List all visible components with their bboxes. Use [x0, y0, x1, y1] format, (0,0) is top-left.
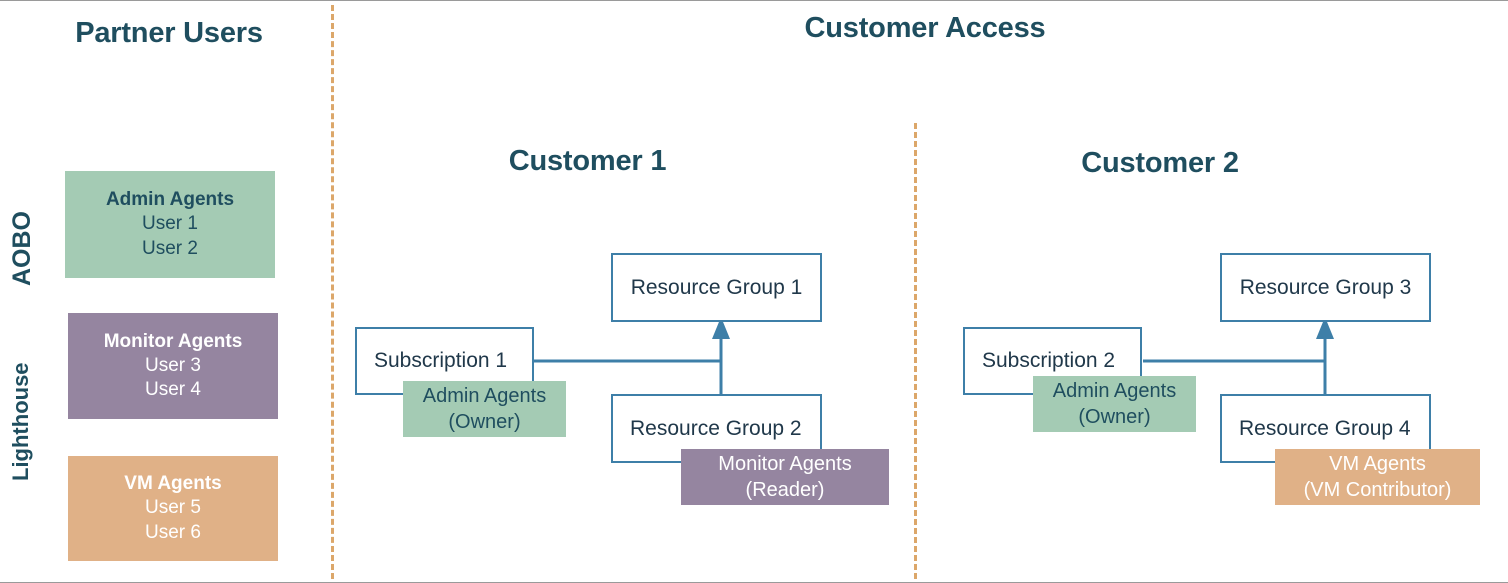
role-assignment-resource-group-2[interactable]: Monitor Agents (Reader): [681, 449, 889, 505]
band-label-lighthouse: Lighthouse: [8, 362, 34, 481]
divider-partner-customer: [331, 5, 334, 579]
partner-group-admin-agents[interactable]: Admin Agents User 1 User 2: [65, 171, 275, 278]
role-assignment-role: (Owner): [448, 409, 520, 435]
role-assignment-resource-group-4[interactable]: VM Agents (VM Contributor): [1275, 449, 1480, 505]
partner-group-user: User 1: [142, 212, 198, 236]
subscription-label: Subscription 2: [982, 349, 1115, 373]
subscription-label: Subscription 1: [374, 349, 507, 373]
band-label-aobo: AOBO: [8, 211, 37, 286]
partner-group-name: Admin Agents: [106, 188, 234, 212]
partner-group-name: VM Agents: [124, 472, 221, 496]
divider-customer1-customer2: [914, 123, 917, 579]
partner-group-name: Monitor Agents: [104, 330, 243, 354]
role-assignment-group: Admin Agents: [423, 383, 546, 409]
role-assignment-group: Admin Agents: [1053, 378, 1176, 404]
resource-group-1-box[interactable]: Resource Group 1: [611, 253, 822, 322]
partner-group-user: User 4: [145, 378, 201, 402]
resource-group-3-box[interactable]: Resource Group 3: [1220, 253, 1431, 322]
diagram-canvas: Partner Users Customer Access Customer 1…: [0, 0, 1508, 583]
role-assignment-subscription-1[interactable]: Admin Agents (Owner): [403, 381, 566, 437]
role-assignment-subscription-2[interactable]: Admin Agents (Owner): [1033, 376, 1196, 432]
resource-group-label: Resource Group 1: [631, 276, 803, 300]
resource-group-label: Resource Group 3: [1240, 276, 1412, 300]
partner-group-user: User 3: [145, 354, 201, 378]
partner-group-user: User 5: [145, 496, 201, 520]
role-assignment-role: (VM Contributor): [1304, 477, 1452, 503]
resource-group-label: Resource Group 2: [630, 417, 802, 441]
partner-group-vm-agents[interactable]: VM Agents User 5 User 6: [68, 456, 278, 561]
partner-group-monitor-agents[interactable]: Monitor Agents User 3 User 4: [68, 313, 278, 419]
resource-group-label: Resource Group 4: [1239, 417, 1411, 441]
role-assignment-role: (Reader): [746, 477, 825, 503]
customer-2-title: Customer 2: [1010, 147, 1310, 180]
customer-1-title: Customer 1: [440, 145, 735, 178]
partner-group-user: User 2: [142, 237, 198, 261]
customer-access-title: Customer Access: [570, 12, 1280, 45]
role-assignment-role: (Owner): [1078, 404, 1150, 430]
role-assignment-group: VM Agents: [1329, 451, 1426, 477]
partner-group-user: User 6: [145, 521, 201, 545]
role-assignment-group: Monitor Agents: [718, 451, 851, 477]
partner-users-title: Partner Users: [64, 17, 274, 50]
